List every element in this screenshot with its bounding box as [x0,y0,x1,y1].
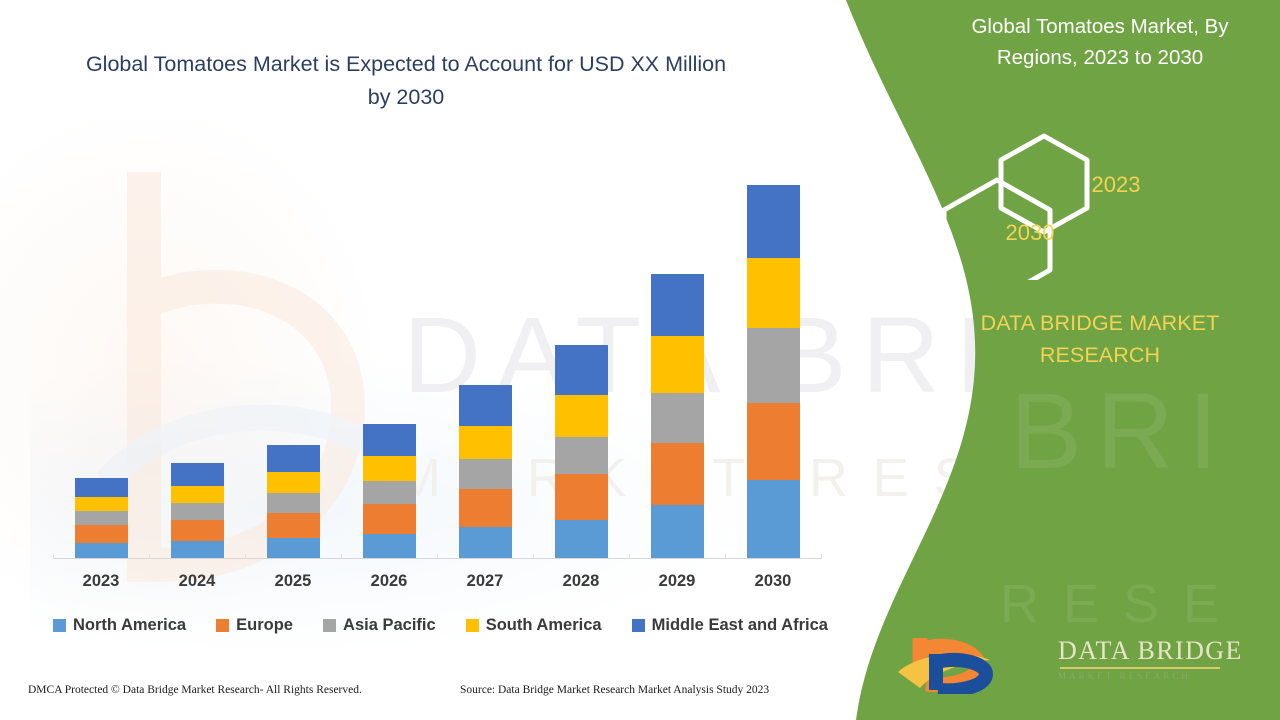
legend-swatch [53,619,66,632]
bar-segment[interactable] [459,385,512,426]
x-axis-label: 2029 [629,572,725,591]
brand-name: DATA BRIDGE MARKET RESEARCH [930,308,1270,372]
bar-segment[interactable] [267,513,320,538]
bar-group-2026 [341,140,437,558]
stacked-bar[interactable] [267,445,320,558]
bar-segment[interactable] [171,503,224,520]
legend-swatch [216,619,229,632]
bar-segment[interactable] [555,474,608,520]
hexagon-2030-label: 2030 [975,220,1085,246]
bar-segment[interactable] [171,520,224,541]
stacked-bar-series [53,140,821,558]
bar-segment[interactable] [75,525,128,543]
bar-segment[interactable] [363,504,416,534]
bar-segment[interactable] [75,511,128,525]
hexagon-2023-label: 2023 [1061,172,1171,198]
x-axis-label: 2026 [341,572,437,591]
bar-segment[interactable] [75,497,128,511]
axis-tick [725,554,726,559]
bar-segment[interactable] [363,456,416,481]
logo-divider [1060,667,1220,669]
bar-segment[interactable] [555,520,608,558]
stacked-bar[interactable] [747,185,800,558]
infographic-canvas: DATA BRIDGE MARKET RESEARCH Global Tomat… [0,0,1280,720]
bar-segment[interactable] [267,538,320,558]
bar-segment[interactable] [747,403,800,480]
stacked-bar[interactable] [651,274,704,558]
bar-group-2023 [53,140,149,558]
stacked-bar[interactable] [171,463,224,558]
bar-group-2029 [629,140,725,558]
stacked-bar[interactable] [555,345,608,558]
panel-title: Global Tomatoes Market, By Regions, 2023… [930,12,1270,74]
bar-segment[interactable] [171,486,224,503]
bar-segment[interactable] [747,480,800,558]
bar-group-2024 [149,140,245,558]
bar-segment[interactable] [747,185,800,258]
legend-item-north-america[interactable]: North America [53,616,186,635]
bar-segment[interactable] [459,527,512,558]
footer-copyright: DMCA Protected © Data Bridge Market Rese… [28,684,362,696]
bar-segment[interactable] [267,445,320,472]
bar-segment[interactable] [459,489,512,527]
chart-legend: North AmericaEuropeAsia PacificSouth Ame… [53,616,828,635]
bar-segment[interactable] [459,459,512,489]
legend-label: South America [486,616,602,635]
legend-item-asia-pacific[interactable]: Asia Pacific [323,616,436,635]
axis-tick [341,554,342,559]
bar-segment[interactable] [651,336,704,393]
bar-segment[interactable] [459,426,512,459]
logo-subtitle: MARKET RESEARCH [1058,671,1243,681]
logo-title: DATA BRIDGE [1058,636,1243,666]
bar-segment[interactable] [651,443,704,505]
bar-segment[interactable] [267,472,320,493]
bar-segment[interactable] [651,393,704,443]
axis-tick [53,554,54,559]
brand-line-1: DATA BRIDGE MARKET [981,311,1220,335]
chart-panel: DATA BRIDGE MARKET RESEARCH Global Tomat… [0,0,900,720]
legend-label: Europe [236,616,293,635]
x-axis-label: 2027 [437,572,533,591]
bar-group-2025 [245,140,341,558]
bar-segment[interactable] [747,258,800,328]
hexagon-badges [930,130,1270,280]
bar-group-2030 [725,140,821,558]
axis-tick [245,554,246,559]
x-axis-label: 2025 [245,572,341,591]
x-axis-label: 2023 [53,572,149,591]
bar-segment[interactable] [171,541,224,558]
logo-wordmark: DATA BRIDGE MARKET RESEARCH [1058,636,1243,681]
stacked-bar[interactable] [459,385,512,558]
bar-group-2028 [533,140,629,558]
bar-segment[interactable] [747,328,800,403]
legend-label: Middle East and Africa [652,616,828,635]
bar-segment[interactable] [363,424,416,456]
bar-segment[interactable] [267,493,320,513]
axis-tick [149,554,150,559]
axis-tick [533,554,534,559]
bar-group-2027 [437,140,533,558]
green-panel-content: Global Tomatoes Market, By Regions, 2023… [930,0,1280,720]
x-axis-label: 2028 [533,572,629,591]
footer-source: Source: Data Bridge Market Research Mark… [460,684,769,696]
bar-segment[interactable] [555,437,608,474]
x-axis-labels: 20232024202520262027202820292030 [53,572,821,591]
bar-segment[interactable] [555,395,608,437]
bar-segment[interactable] [363,534,416,558]
bar-segment[interactable] [651,505,704,558]
legend-swatch [632,619,645,632]
legend-swatch [466,619,479,632]
legend-swatch [323,619,336,632]
legend-label: North America [73,616,186,635]
legend-item-europe[interactable]: Europe [216,616,293,635]
bar-segment[interactable] [75,543,128,558]
stacked-bar[interactable] [75,478,128,558]
axis-tick [437,554,438,559]
bar-segment[interactable] [171,463,224,486]
bar-segment[interactable] [555,345,608,395]
bar-segment[interactable] [363,481,416,504]
bar-segment[interactable] [651,274,704,336]
stacked-bar[interactable] [363,424,416,558]
x-axis-label: 2030 [725,572,821,591]
bar-segment[interactable] [75,478,128,497]
axis-tick [629,554,630,559]
legend-item-middle-east-and-africa[interactable]: Middle East and Africa [632,616,828,635]
chart-title: Global Tomatoes Market is Expected to Ac… [76,48,736,113]
brand-line-2: RESEARCH [1040,343,1160,367]
legend-item-south-america[interactable]: South America [466,616,602,635]
legend-label: Asia Pacific [343,616,436,635]
x-axis-label: 2024 [149,572,245,591]
axis-tick [821,554,822,559]
